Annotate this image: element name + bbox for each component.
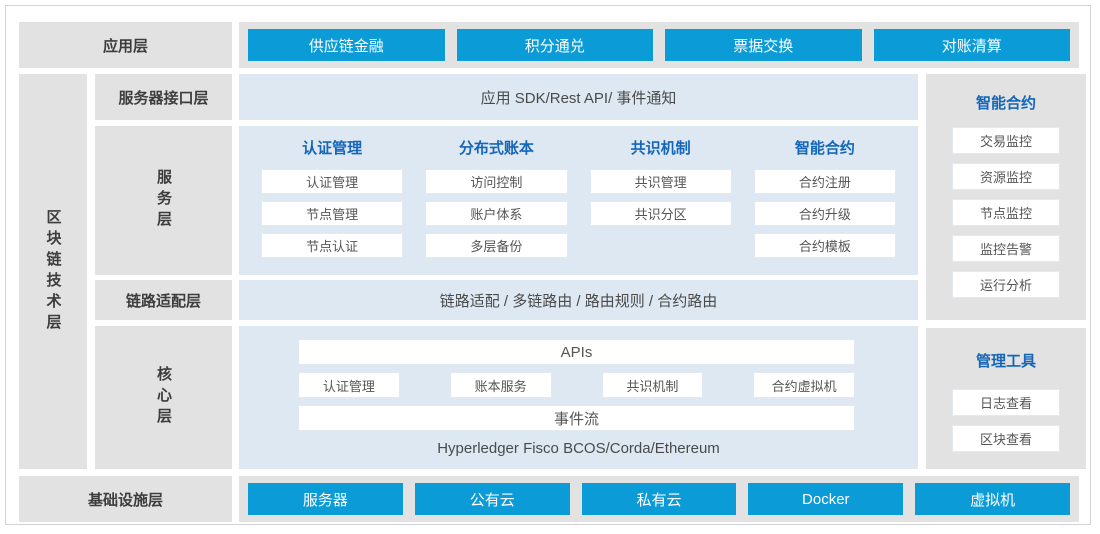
app-item-bill-exchange[interactable]: 票据交换	[665, 29, 862, 61]
infrastructure-layer-label: 基础设施层	[88, 489, 163, 510]
application-layer-items-container: 供应链金融 积分通兑 票据交换 对账清算	[239, 22, 1079, 68]
diagram-frame: 应用层 供应链金融 积分通兑 票据交换 对账清算 区块链技术层	[5, 5, 1091, 525]
side-panel-item-label: 区块查看	[980, 429, 1032, 448]
app-item-label: 对账清算	[942, 35, 1002, 56]
core-layer-content-box: APIs 认证管理 账本服务 共识机制 合约虚拟机 事件流 Hyperledge…	[239, 326, 918, 469]
side-panel-smart-contract: 智能合约 交易监控 资源监控 节点监控 监控告警 运行分析	[926, 74, 1086, 320]
tech-layer-label-box: 区块链技术层	[19, 74, 87, 469]
core-apis-bar[interactable]: APIs	[298, 339, 855, 365]
side-panel-item-label: 资源监控	[980, 167, 1032, 186]
core-layer-label: 核心层	[153, 366, 174, 429]
core-footer-text: Hyperledger Fisco BCOS/Corda/Ethereum	[437, 440, 720, 457]
service-item-box[interactable]: 认证管理	[261, 169, 403, 194]
side-panel-item[interactable]: 资源监控	[952, 163, 1060, 190]
chain-adapter-layer-label: 链路适配层	[126, 290, 201, 311]
service-column-header: 分布式账本	[425, 137, 567, 158]
core-layer-label-box: 核心层	[95, 326, 232, 469]
app-item-points-exchange[interactable]: 积分通兑	[457, 29, 654, 61]
service-item-label: 共识管理	[635, 172, 687, 191]
service-item-box[interactable]: 多层备份	[425, 233, 567, 258]
server-interface-layer-content: 应用 SDK/Rest API/ 事件通知	[481, 87, 677, 108]
app-item-supply-chain-finance[interactable]: 供应链金融	[248, 29, 445, 61]
app-item-reconciliation-settlement[interactable]: 对账清算	[874, 29, 1071, 61]
service-column-distributed-ledger: 分布式账本 访问控制 账户体系 多层备份	[425, 137, 567, 258]
side-panel-item-label: 节点监控	[980, 203, 1032, 222]
infrastructure-layer-label-box: 基础设施层	[19, 476, 232, 522]
side-panel-item[interactable]: 区块查看	[952, 425, 1060, 452]
service-column-smart-contract: 智能合约 合约注册 合约升级 合约模板	[754, 137, 896, 258]
infra-item-docker[interactable]: Docker	[748, 483, 903, 515]
core-module-box[interactable]: 共识机制	[602, 372, 704, 398]
core-module-label: 账本服务	[475, 376, 527, 395]
side-panel-item[interactable]: 节点监控	[952, 199, 1060, 226]
tech-layer-label: 区块链技术层	[43, 209, 64, 335]
infra-item-public-cloud[interactable]: 公有云	[415, 483, 570, 515]
infra-item-label: Docker	[802, 491, 850, 508]
core-module-label: 合约虚拟机	[772, 376, 837, 395]
core-module-box[interactable]: 合约虚拟机	[753, 372, 855, 398]
infra-item-private-cloud[interactable]: 私有云	[582, 483, 737, 515]
service-column-consensus-mechanism: 共识机制 共识管理 共识分区	[590, 137, 732, 258]
side-panel-title: 智能合约	[926, 92, 1086, 113]
architecture-diagram: 应用层 供应链金融 积分通兑 票据交换 对账清算 区块链技术层	[0, 0, 1100, 534]
infra-item-label: 服务器	[303, 489, 348, 510]
chain-adapter-layer-content-box: 链路适配 / 多链路由 / 路由规则 / 合约路由	[239, 280, 918, 320]
side-panel-item[interactable]: 运行分析	[952, 271, 1060, 298]
service-item-box[interactable]: 节点管理	[261, 201, 403, 226]
service-column-header: 智能合约	[754, 137, 896, 158]
core-module-box[interactable]: 账本服务	[450, 372, 552, 398]
application-layer-label: 应用层	[103, 35, 148, 56]
app-item-label: 积分通兑	[525, 35, 585, 56]
chain-adapter-layer-label-box: 链路适配层	[95, 280, 232, 320]
service-item-label: 节点认证	[306, 236, 358, 255]
server-interface-layer-label-box: 服务器接口层	[95, 74, 232, 120]
infra-item-server[interactable]: 服务器	[248, 483, 403, 515]
service-item-label: 合约模板	[799, 236, 851, 255]
service-item-box[interactable]: 访问控制	[425, 169, 567, 194]
side-panel-item-label: 日志查看	[980, 393, 1032, 412]
core-footer-text-box: Hyperledger Fisco BCOS/Corda/Ethereum	[239, 434, 918, 462]
service-item-label: 共识分区	[635, 204, 687, 223]
service-item-label: 多层备份	[470, 236, 522, 255]
service-item-label: 合约注册	[799, 172, 851, 191]
service-item-box[interactable]: 合约注册	[754, 169, 896, 194]
service-item-box[interactable]: 共识分区	[590, 201, 732, 226]
service-layer-label-box: 服务层	[95, 126, 232, 275]
service-column-header: 共识机制	[590, 137, 732, 158]
service-column-auth-management: 认证管理 认证管理 节点管理 节点认证	[261, 137, 403, 258]
core-event-stream-label: 事件流	[554, 408, 599, 429]
service-item-label: 账户体系	[470, 204, 522, 223]
service-layer-label: 服务层	[153, 169, 174, 232]
infra-item-label: 公有云	[470, 489, 515, 510]
side-panel-title: 管理工具	[926, 350, 1086, 371]
core-event-stream-bar[interactable]: 事件流	[298, 405, 855, 431]
service-item-label: 合约升级	[799, 204, 851, 223]
core-module-label: 共识机制	[626, 376, 678, 395]
side-panel-item[interactable]: 日志查看	[952, 389, 1060, 416]
side-panel-item[interactable]: 交易监控	[952, 127, 1060, 154]
service-item-box[interactable]: 节点认证	[261, 233, 403, 258]
core-modules-row: 认证管理 账本服务 共识机制 合约虚拟机	[298, 372, 855, 398]
application-layer-label-box: 应用层	[19, 22, 232, 68]
service-item-label: 节点管理	[306, 204, 358, 223]
server-interface-layer-label: 服务器接口层	[118, 87, 208, 108]
infra-item-virtual-machine[interactable]: 虚拟机	[915, 483, 1070, 515]
side-panel-item-label: 交易监控	[980, 131, 1032, 150]
service-item-box[interactable]: 合约升级	[754, 201, 896, 226]
infra-item-label: 私有云	[636, 489, 681, 510]
core-module-label: 认证管理	[323, 376, 375, 395]
service-layer-content-box: 认证管理 认证管理 节点管理 节点认证 分布式账本 访问控制 账户体系 多层备份	[239, 126, 918, 275]
side-panel-item-label: 监控告警	[980, 239, 1032, 258]
side-panel-item-label: 运行分析	[980, 275, 1032, 294]
app-item-label: 票据交换	[733, 35, 793, 56]
core-module-box[interactable]: 认证管理	[298, 372, 400, 398]
service-item-label: 访问控制	[470, 172, 522, 191]
infrastructure-layer-items-container: 服务器 公有云 私有云 Docker 虚拟机	[239, 476, 1079, 522]
core-apis-label: APIs	[561, 344, 593, 361]
server-interface-layer-content-box: 应用 SDK/Rest API/ 事件通知	[239, 74, 918, 120]
infra-item-label: 虚拟机	[970, 489, 1015, 510]
side-panel-item[interactable]: 监控告警	[952, 235, 1060, 262]
service-item-box[interactable]: 账户体系	[425, 201, 567, 226]
service-item-box[interactable]: 共识管理	[590, 169, 732, 194]
chain-adapter-layer-content: 链路适配 / 多链路由 / 路由规则 / 合约路由	[440, 290, 718, 311]
service-item-label: 认证管理	[306, 172, 358, 191]
service-column-header: 认证管理	[261, 137, 403, 158]
side-panel-management-tools: 管理工具 日志查看 区块查看	[926, 328, 1086, 469]
service-item-box[interactable]: 合约模板	[754, 233, 896, 258]
app-item-label: 供应链金融	[309, 35, 384, 56]
